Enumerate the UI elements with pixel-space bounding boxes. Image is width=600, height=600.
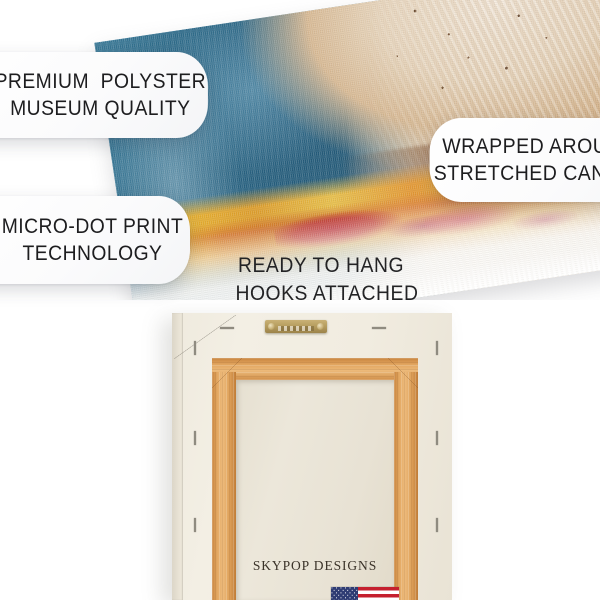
wooden-stretcher-frame: SKYPOP DESIGNS: [212, 358, 418, 600]
staple: [436, 518, 438, 532]
canvas-inner-back-panel: SKYPOP DESIGNS: [236, 380, 394, 600]
flag-canton: [331, 587, 358, 600]
product-feature-graphic: PREMIUM POLYSTER MUSEUM QUALITY MICRO-DO…: [0, 0, 600, 600]
staple: [436, 341, 438, 355]
feature-ready-line1: READY TO HANG: [235, 252, 406, 280]
hanger-teeth: [278, 326, 314, 331]
feature-badge-micro-line1: MICRO-DOT PRINT: [2, 213, 183, 240]
hanger-screw-left: [268, 323, 275, 330]
canvas-corner-fold-line: [174, 315, 236, 359]
stretcher-bar-left: [212, 372, 236, 600]
feature-badge-premium-polyster: PREMIUM POLYSTER MUSEUM QUALITY: [0, 52, 208, 138]
us-flag-icon: [331, 587, 399, 600]
feature-badge-premium-line2: MUSEUM QUALITY: [10, 95, 190, 122]
sawtooth-hanger-icon: [265, 320, 327, 333]
stretcher-bar-right: [394, 372, 418, 600]
feature-ready-line2: HOOKS ATTACHED: [235, 280, 406, 308]
staple: [372, 327, 386, 329]
feature-badge-premium-line1: PREMIUM POLYSTER: [0, 68, 206, 95]
staple: [194, 341, 196, 355]
staple: [436, 431, 438, 445]
staple: [194, 431, 196, 445]
staple: [194, 518, 196, 532]
hanger-screw-right: [317, 323, 324, 330]
feature-badge-wrapped-line1: WRAPPED AROUND: [442, 133, 600, 160]
stretched-canvas-back: SKYPOP DESIGNS: [172, 313, 452, 600]
flag-stars-row-b: [331, 587, 358, 600]
staple: [220, 327, 234, 329]
feature-badge-micro-dot-print: MICRO-DOT PRINT TECHNOLOGY: [0, 196, 190, 284]
feature-badge-wrapped-stretched-canvas: WRAPPED AROUND STRETCHED CANVAS: [430, 118, 600, 202]
feature-badge-micro-line2: TECHNOLOGY: [23, 240, 163, 267]
feature-text-ready-to-hang: READY TO HANG HOOKS ATTACHED: [235, 252, 406, 307]
feature-badge-wrapped-line2: STRETCHED CANVAS: [434, 160, 600, 187]
brand-name: SKYPOP DESIGNS: [236, 558, 394, 574]
